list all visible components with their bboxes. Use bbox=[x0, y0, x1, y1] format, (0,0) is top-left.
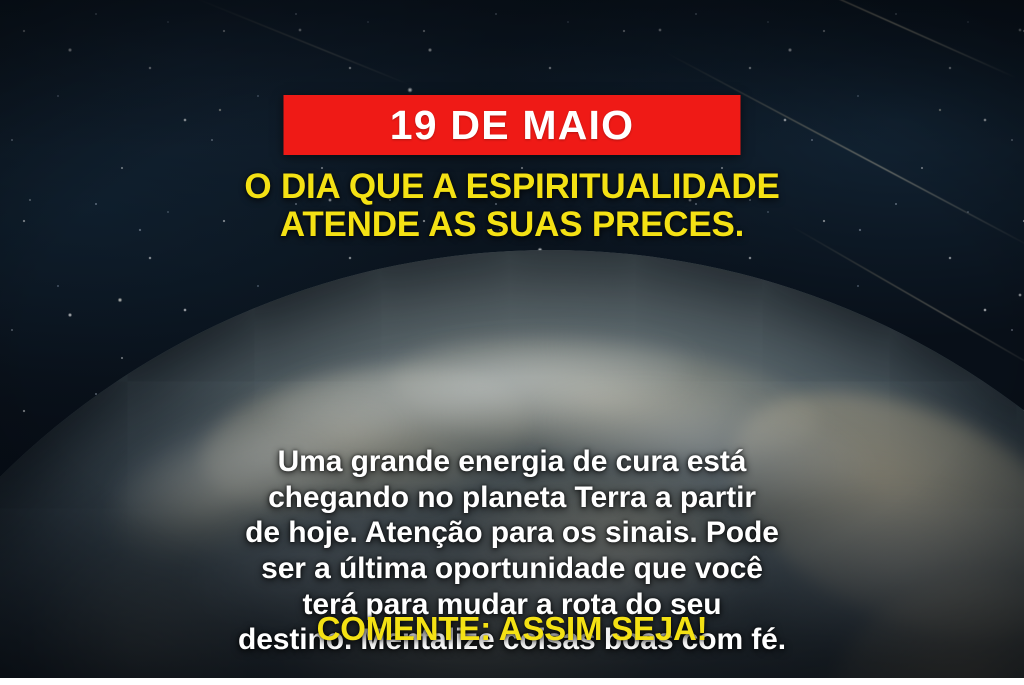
call-to-action-text: COMENTE: ASSIM SEJA! bbox=[0, 612, 1024, 645]
body-line-2: chegando no planeta Terra a partir bbox=[52, 480, 972, 516]
poster-image: 19 DE MAIO O DIA QUE A ESPIRITUALIDADE A… bbox=[0, 0, 1024, 685]
headline-line-1: O DIA QUE A ESPIRITUALIDADE bbox=[40, 168, 984, 206]
body-line-4: ser a última oportunidade que você bbox=[52, 551, 972, 587]
date-banner: 19 DE MAIO bbox=[284, 95, 741, 155]
body-line-3: de hoje. Atenção para os sinais. Pode bbox=[52, 515, 972, 551]
headline-line-2: ATENDE AS SUAS PRECES. bbox=[40, 206, 984, 244]
headline: O DIA QUE A ESPIRITUALIDADE ATENDE AS SU… bbox=[0, 168, 1024, 244]
bottom-white-strip bbox=[0, 678, 1024, 685]
date-banner-label: 19 DE MAIO bbox=[390, 105, 634, 146]
body-line-1: Uma grande energia de cura está bbox=[52, 444, 972, 480]
poster-content: 19 DE MAIO O DIA QUE A ESPIRITUALIDADE A… bbox=[0, 0, 1024, 685]
